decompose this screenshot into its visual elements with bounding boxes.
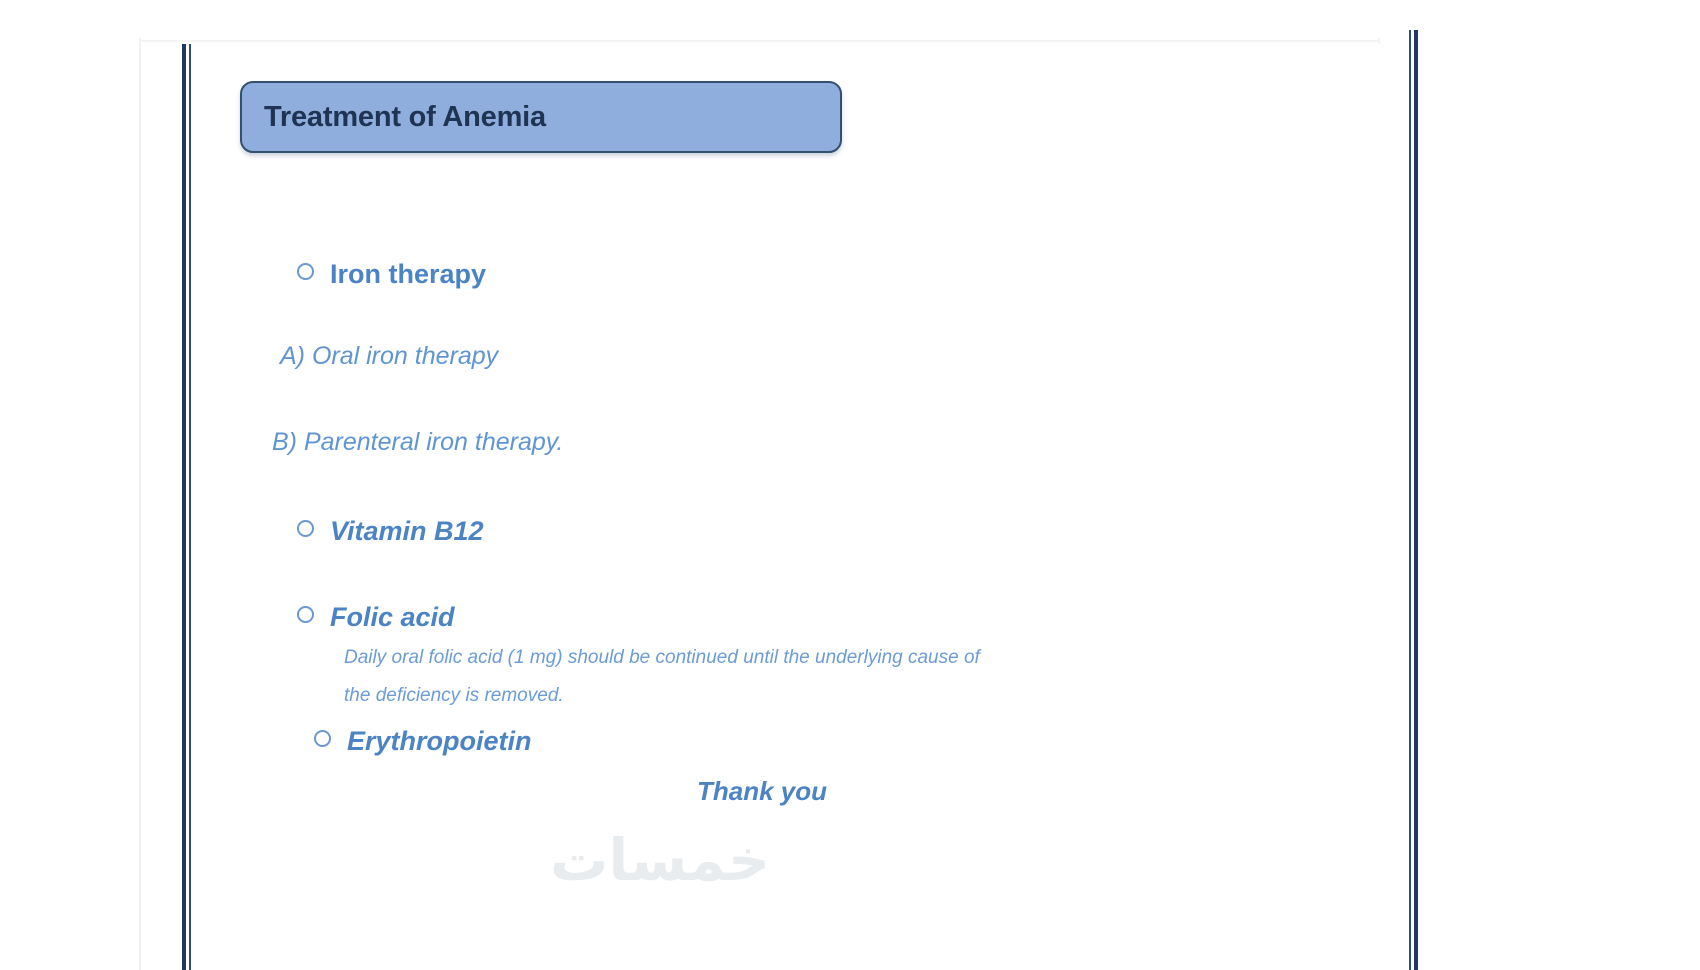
scanned-slide-page: Treatment of Anemia Iron therapy A) Oral… [0, 0, 1700, 970]
frame-right-inner-rule [1409, 30, 1411, 970]
closing-thank-you: Thank you [697, 776, 827, 807]
khamsat-watermark: خمسات [500, 826, 820, 894]
hollow-circle-bullet-icon [314, 730, 331, 747]
frame-left-outer-rule [182, 44, 186, 970]
slide-frame-left-border [182, 44, 192, 970]
bullet-item-iron-therapy: Iron therapy [297, 259, 486, 290]
bullet-label-iron-therapy: Iron therapy [330, 259, 486, 290]
frame-right-outer-rule [1414, 30, 1418, 970]
scan-margin-right [1380, 0, 1700, 970]
slide-frame-right-border [1408, 30, 1418, 970]
scan-margin-left [0, 0, 138, 970]
folic-acid-note-line-1: Daily oral folic acid (1 mg) should be c… [344, 647, 980, 669]
sub-item-parenteral-iron-therapy: B) Parenteral iron therapy. [272, 428, 563, 457]
hollow-circle-bullet-icon [297, 263, 314, 280]
bullet-item-erythropoietin: Erythropoietin [314, 726, 532, 757]
bullet-label-vitamin-b12: Vitamin B12 [330, 516, 484, 547]
bullet-item-vitamin-b12: Vitamin B12 [297, 516, 484, 547]
hollow-circle-bullet-icon [297, 520, 314, 537]
folic-acid-note-line-2: the deficiency is removed. [344, 685, 564, 707]
frame-left-inner-rule [189, 44, 191, 970]
bullet-label-folic-acid: Folic acid [330, 602, 455, 633]
bullet-item-folic-acid: Folic acid [297, 602, 455, 633]
sheet-edge-left-hairline [139, 38, 141, 970]
hollow-circle-bullet-icon [297, 606, 314, 623]
sub-item-oral-iron-therapy: A) Oral iron therapy [280, 342, 498, 371]
scan-top-hairline [140, 40, 1380, 42]
bullet-label-erythropoietin: Erythropoietin [347, 726, 532, 757]
